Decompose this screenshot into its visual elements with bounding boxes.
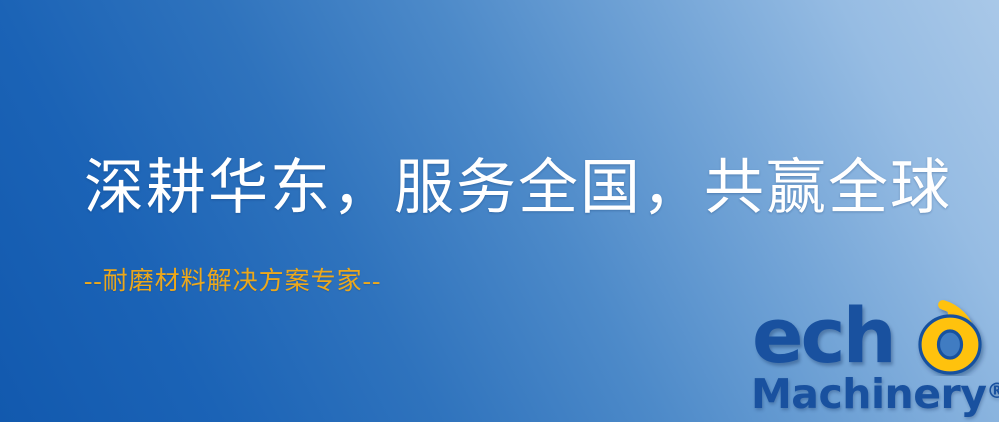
promo-banner: 深耕华东，服务全国，共赢全球 --耐磨材料解决方案专家-- ech <box>0 0 999 422</box>
letter-o-ring <box>920 316 980 373</box>
logo-text-ech: ech <box>752 298 894 374</box>
banner-subtitle: --耐磨材料解决方案专家-- <box>84 266 381 298</box>
logo-machinery-word: Machinery <box>751 370 986 418</box>
registered-trademark-symbol: ® <box>986 379 999 403</box>
logo-wordmark: ech <box>750 296 994 374</box>
company-logo[interactable]: ech <box>744 296 994 422</box>
logo-text-machinery: Machinery® <box>751 368 999 417</box>
logo-letter-o-with-signal-icon <box>912 296 999 376</box>
banner-headline: 深耕华东，服务全国，共赢全球 <box>84 152 952 224</box>
